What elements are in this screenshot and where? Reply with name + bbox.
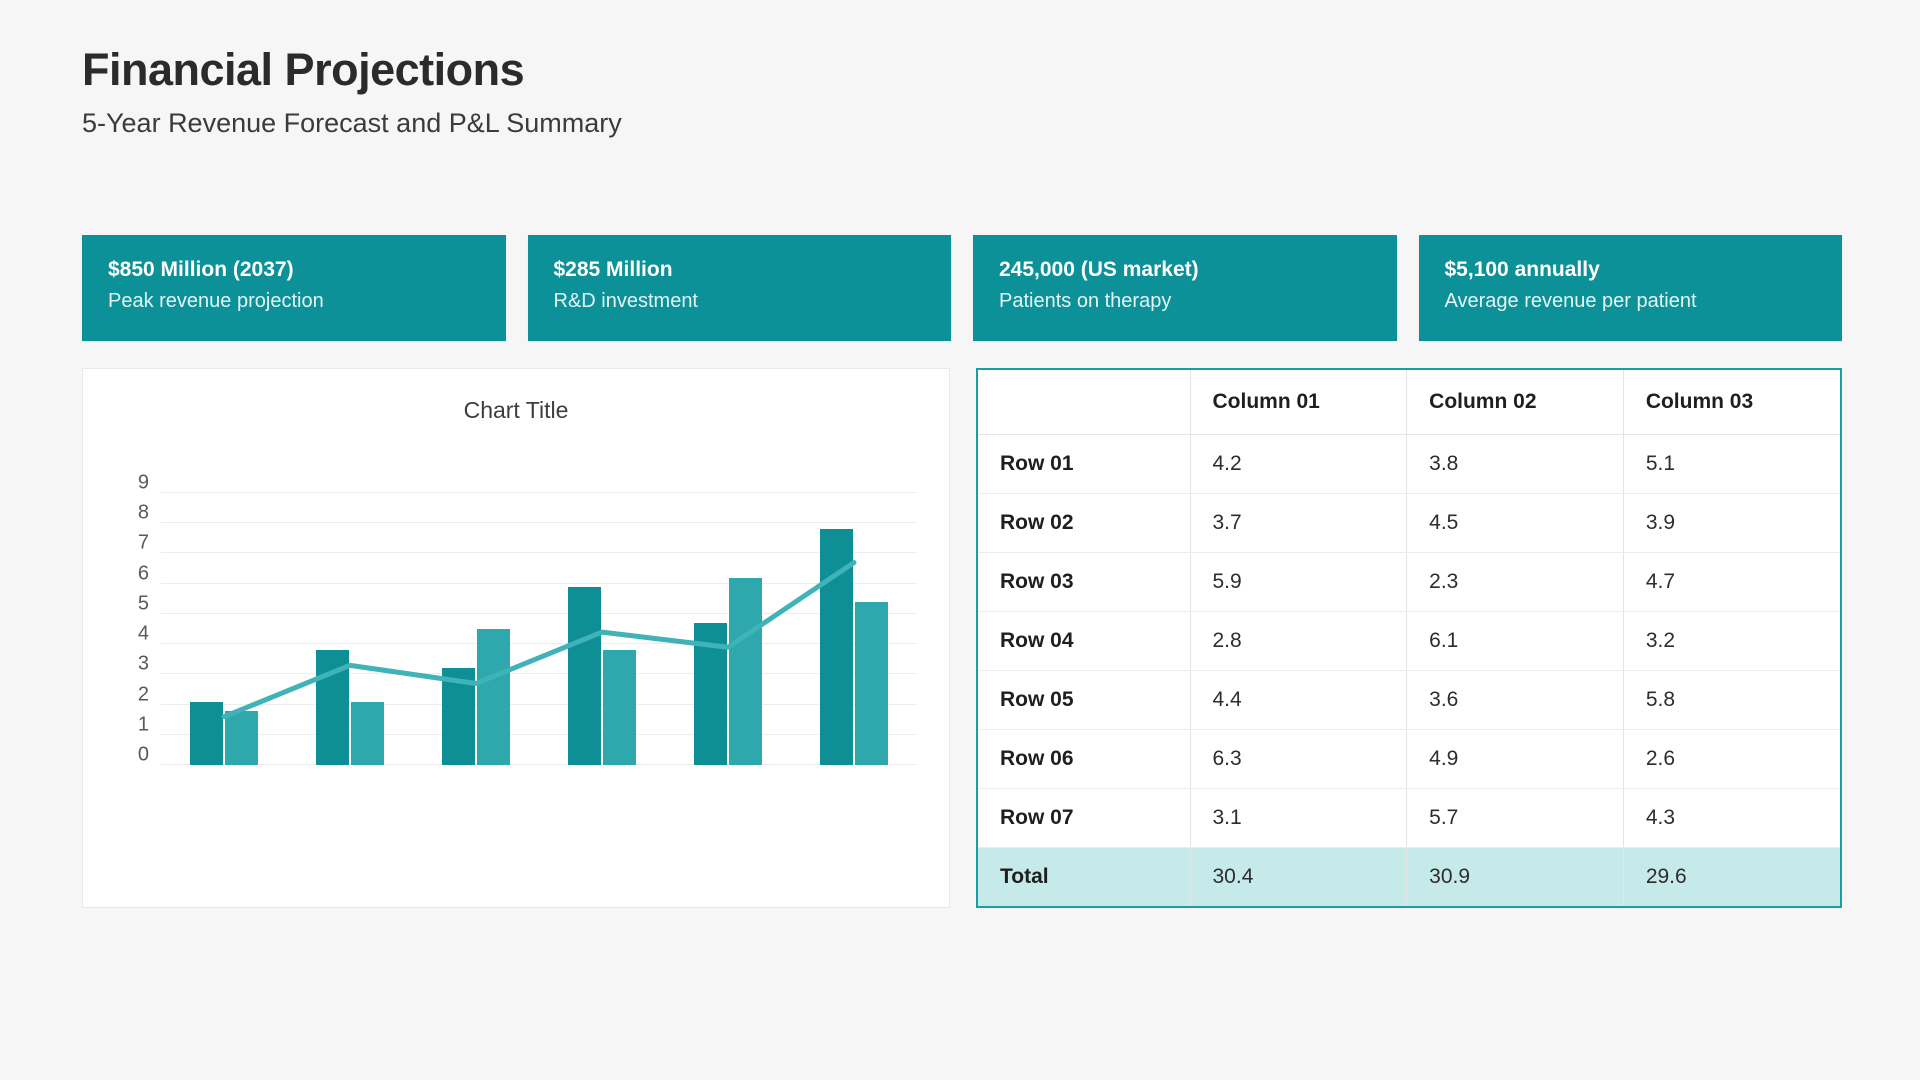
- table-total-cell: 30.4: [1190, 847, 1407, 906]
- chart-panel: Chart Title 0123456789 JanFebMarAprMayJu…: [82, 368, 950, 908]
- kpi-card: $850 Million (2037)Peak revenue projecti…: [82, 235, 506, 341]
- kpi-value: 245,000 (US market): [999, 257, 1371, 283]
- data-table: Column 01Column 02Column 03 Row 014.23.8…: [978, 370, 1840, 906]
- y-axis-tick-label: 0: [138, 744, 149, 767]
- kpi-card-row: $850 Million (2037)Peak revenue projecti…: [82, 235, 1842, 341]
- kpi-card: $285 MillionR&D investment: [528, 235, 952, 341]
- slide-root: Financial Projections 5-Year Revenue For…: [0, 0, 1920, 1080]
- table-row-header: Row 07: [978, 788, 1190, 847]
- table-row-header: Row 06: [978, 729, 1190, 788]
- table-cell: 3.6: [1407, 670, 1624, 729]
- kpi-label: R&D investment: [554, 288, 926, 314]
- y-axis-tick-label: 4: [138, 623, 149, 646]
- chart-y-axis: 0123456789: [105, 755, 149, 756]
- page-subtitle: 5-Year Revenue Forecast and P&L Summary: [82, 109, 622, 139]
- table-cell: 4.4: [1190, 670, 1407, 729]
- table-corner-header[interactable]: [978, 370, 1190, 434]
- table-cell: 4.2: [1190, 434, 1407, 493]
- table-total-row: Total30.430.929.6: [978, 847, 1840, 906]
- table-cell: 3.1: [1190, 788, 1407, 847]
- table-row[interactable]: Row 014.23.85.1: [978, 434, 1840, 493]
- kpi-value: $285 Million: [554, 257, 926, 283]
- table-row[interactable]: Row 035.92.34.7: [978, 552, 1840, 611]
- kpi-label: Patients on therapy: [999, 288, 1371, 314]
- table-total-label: Total: [978, 847, 1190, 906]
- table-cell: 4.5: [1407, 493, 1624, 552]
- table-column-header[interactable]: Column 01: [1190, 370, 1407, 434]
- y-axis-tick-label: 9: [138, 472, 149, 495]
- table-total-cell: 29.6: [1623, 847, 1840, 906]
- table-cell: 5.1: [1623, 434, 1840, 493]
- kpi-value: $850 Million (2037): [108, 257, 480, 283]
- slide-header: Financial Projections 5-Year Revenue For…: [82, 46, 622, 138]
- kpi-card: 245,000 (US market)Patients on therapy: [973, 235, 1397, 341]
- table-header: Column 01Column 02Column 03: [978, 370, 1840, 434]
- page-title: Financial Projections: [82, 46, 622, 95]
- table-cell: 3.9: [1623, 493, 1840, 552]
- y-axis-tick-label: 5: [138, 592, 149, 615]
- table-cell: 5.9: [1190, 552, 1407, 611]
- line-marketing: [224, 563, 854, 717]
- table-cell: 3.2: [1623, 611, 1840, 670]
- table-cell: 3.8: [1407, 434, 1624, 493]
- table-row[interactable]: Row 054.43.65.8: [978, 670, 1840, 729]
- table-column-header[interactable]: Column 02: [1407, 370, 1624, 434]
- table-cell: 2.3: [1407, 552, 1624, 611]
- table-row-header: Row 01: [978, 434, 1190, 493]
- table-column-header[interactable]: Column 03: [1623, 370, 1840, 434]
- table-cell: 3.7: [1190, 493, 1407, 552]
- y-axis-tick-label: 8: [138, 502, 149, 525]
- table-row[interactable]: Row 042.86.13.2: [978, 611, 1840, 670]
- table-row-header: Row 04: [978, 611, 1190, 670]
- chart-line-series: [161, 381, 917, 765]
- data-table-panel: Column 01Column 02Column 03 Row 014.23.8…: [976, 368, 1842, 908]
- table-row-header: Row 05: [978, 670, 1190, 729]
- table-cell: 2.8: [1190, 611, 1407, 670]
- y-axis-tick-label: 1: [138, 713, 149, 736]
- table-body: Row 014.23.85.1Row 023.74.53.9Row 035.92…: [978, 434, 1840, 906]
- table-cell: 5.8: [1623, 670, 1840, 729]
- table-row-header: Row 02: [978, 493, 1190, 552]
- table-cell: 4.9: [1407, 729, 1624, 788]
- kpi-label: Peak revenue projection: [108, 288, 480, 314]
- table-cell: 5.7: [1407, 788, 1624, 847]
- table-cell: 2.6: [1623, 729, 1840, 788]
- table-row[interactable]: Row 066.34.92.6: [978, 729, 1840, 788]
- table-row[interactable]: Row 073.15.74.3: [978, 788, 1840, 847]
- table-row-header: Row 03: [978, 552, 1190, 611]
- table-cell: 4.7: [1623, 552, 1840, 611]
- kpi-label: Average revenue per patient: [1445, 288, 1817, 314]
- table-header-row: Column 01Column 02Column 03: [978, 370, 1840, 434]
- table-total-cell: 30.9: [1407, 847, 1624, 906]
- y-axis-tick-label: 7: [138, 532, 149, 555]
- y-axis-tick-label: 2: [138, 683, 149, 706]
- table-cell: 4.3: [1623, 788, 1840, 847]
- kpi-value: $5,100 annually: [1445, 257, 1817, 283]
- table-cell: 6.3: [1190, 729, 1407, 788]
- table-row[interactable]: Row 023.74.53.9: [978, 493, 1840, 552]
- kpi-card: $5,100 annuallyAverage revenue per patie…: [1419, 235, 1843, 341]
- content-row: Chart Title 0123456789 JanFebMarAprMayJu…: [82, 368, 1842, 908]
- table-cell: 6.1: [1407, 611, 1624, 670]
- y-axis-tick-label: 6: [138, 562, 149, 585]
- y-axis-tick-label: 3: [138, 653, 149, 676]
